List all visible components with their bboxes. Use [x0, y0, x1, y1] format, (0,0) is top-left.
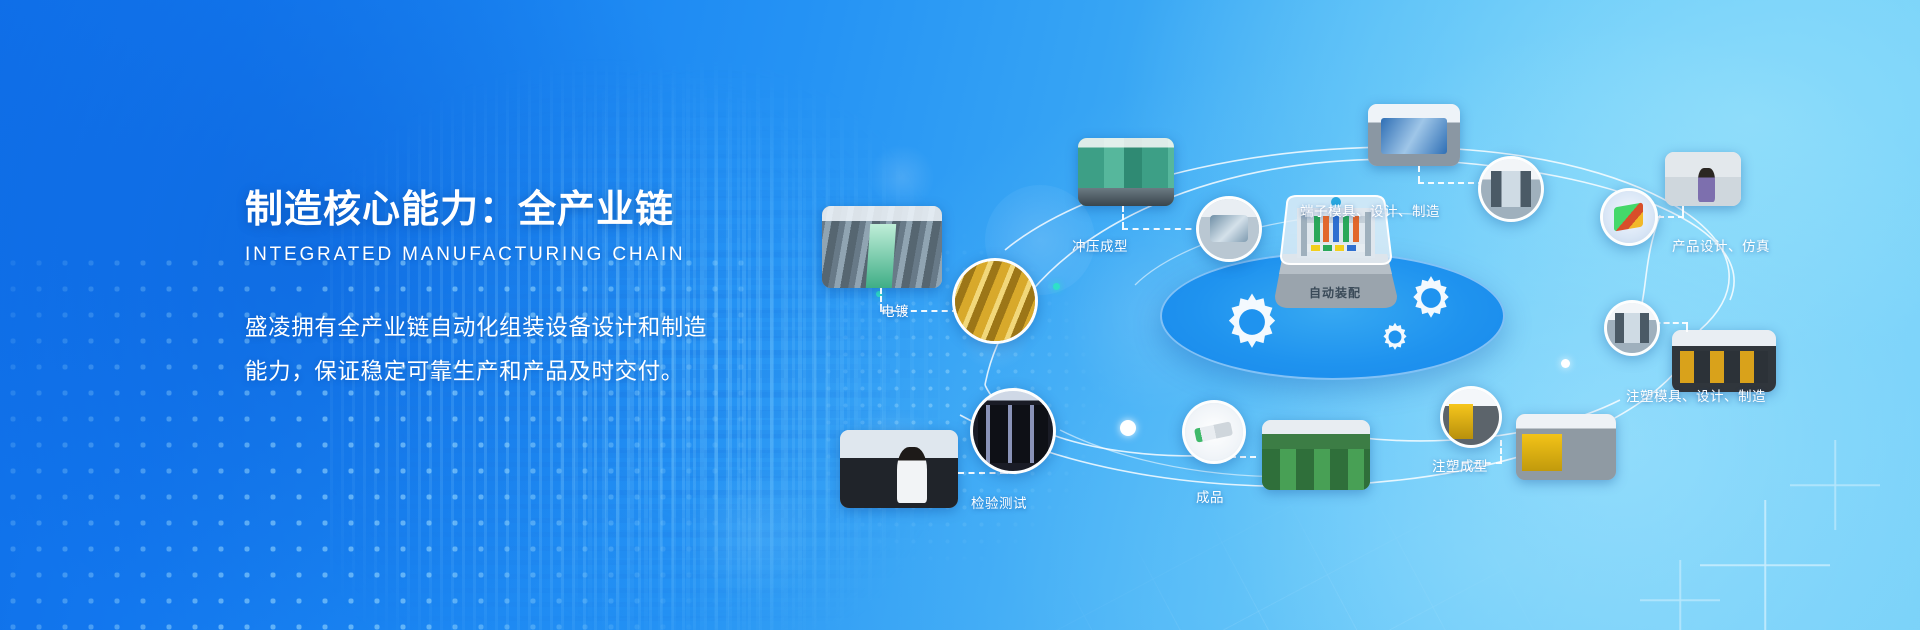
node-injection-molding[interactable]: [1440, 386, 1502, 448]
photo-terminal-die: [1481, 159, 1541, 219]
photo-stamping-die: [1199, 199, 1259, 259]
page-subtitle: INTEGRATED MANUFACTURING CHAIN: [245, 244, 715, 266]
photo-plating-line: [822, 206, 942, 288]
photo-test-rack: [973, 391, 1053, 471]
photo-injection-die: [1607, 303, 1657, 353]
thumb-injection-molding[interactable]: [1516, 414, 1616, 480]
photo-finished-connectors: [1185, 403, 1243, 461]
thumb-terminal-mold[interactable]: [1368, 104, 1460, 166]
node-product-design[interactable]: [1600, 188, 1658, 246]
orbit-dot-accent-3: [1053, 283, 1060, 290]
gear-icon-small: [1378, 320, 1412, 354]
manufacturing-chain-banner: 制造核心能力：全产业链 INTEGRATED MANUFACTURING CHA…: [0, 0, 1920, 630]
photo-injection-machine: [1516, 414, 1616, 480]
gear-icon-medium: [1405, 272, 1457, 324]
thumb-finished-goods[interactable]: [1262, 420, 1370, 490]
page-description: 盛凌拥有全产业链自动化组装设备设计和制造能力，保证稳定可靠生产和产品及时交付。: [245, 306, 715, 394]
page-title: 制造核心能力：全产业链: [245, 178, 715, 233]
thumb-electroplating[interactable]: [822, 206, 942, 288]
label-injection-molding: 注塑成型: [1432, 455, 1488, 475]
node-electroplating[interactable]: [952, 258, 1038, 344]
thumb-stamping[interactable]: [1078, 138, 1174, 206]
label-electroplating: 电镀: [881, 300, 909, 320]
label-inspection-testing: 检验测试: [971, 492, 1027, 512]
photo-inspection-lab: [840, 430, 958, 508]
photo-terminal-mold-shop: [1368, 104, 1460, 166]
photo-stamping-shop: [1078, 138, 1174, 206]
node-terminal-mold[interactable]: [1478, 156, 1544, 222]
thumb-inspection-testing[interactable]: [840, 430, 958, 508]
orbit-dot-3: [1561, 359, 1570, 368]
label-injection-mold: 注塑模具、设计、制造: [1626, 385, 1766, 405]
photo-injection-mold-shop: [1672, 330, 1776, 392]
node-finished-goods[interactable]: [1182, 400, 1246, 464]
hub-label: 自动装配: [1265, 284, 1405, 301]
banner-copy: 制造核心能力：全产业链 INTEGRATED MANUFACTURING CHA…: [245, 178, 715, 394]
photo-assembly-line: [1262, 420, 1370, 490]
node-stamping[interactable]: [1196, 196, 1262, 262]
photo-cad-model: [1603, 191, 1655, 243]
label-stamping: 冲压成型: [1072, 235, 1128, 255]
node-inspection-testing[interactable]: [970, 388, 1056, 474]
label-finished-goods: 成品: [1196, 486, 1224, 506]
orbit-dot-accent-4: [876, 291, 882, 297]
photo-plated-terminal: [955, 261, 1035, 341]
photo-injection-forklift: [1443, 389, 1499, 445]
label-terminal-mold: 端子模具、设计、制造: [1300, 200, 1440, 220]
label-product-design: 产品设计、仿真: [1672, 235, 1770, 255]
orbit-dot-1: [1120, 420, 1136, 436]
node-injection-mold[interactable]: [1604, 300, 1660, 356]
thumb-injection-mold[interactable]: [1672, 330, 1776, 392]
photo-design-office: [1665, 152, 1741, 206]
thumb-product-design[interactable]: [1665, 152, 1741, 206]
